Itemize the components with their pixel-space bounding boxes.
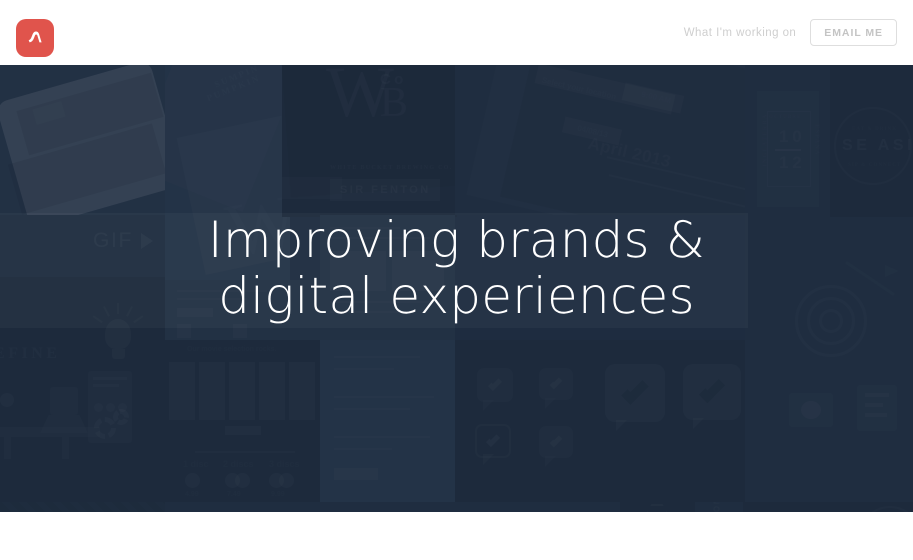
hero-copy: Improving brands & digital experiences <box>0 65 913 512</box>
site-header: What I'm working on EMAIL ME <box>0 0 913 65</box>
hero-title-line-1: Improving brands & <box>208 212 705 268</box>
hero-section: SUMPIN PUMPKIN W W Co B WHITE BUCKET BRE… <box>0 65 913 512</box>
header-nav: What I'm working on EMAIL ME <box>684 0 897 65</box>
page-title: Improving brands & digital experiences <box>208 212 705 324</box>
nav-tagline: What I'm working on <box>684 27 797 39</box>
email-me-button[interactable]: EMAIL ME <box>810 19 897 46</box>
hero-title-line-2: digital experiences <box>208 268 705 324</box>
below-fold-section <box>0 512 913 560</box>
brand-logo[interactable] <box>16 19 54 57</box>
lambda-mark-logo-icon <box>25 28 45 48</box>
